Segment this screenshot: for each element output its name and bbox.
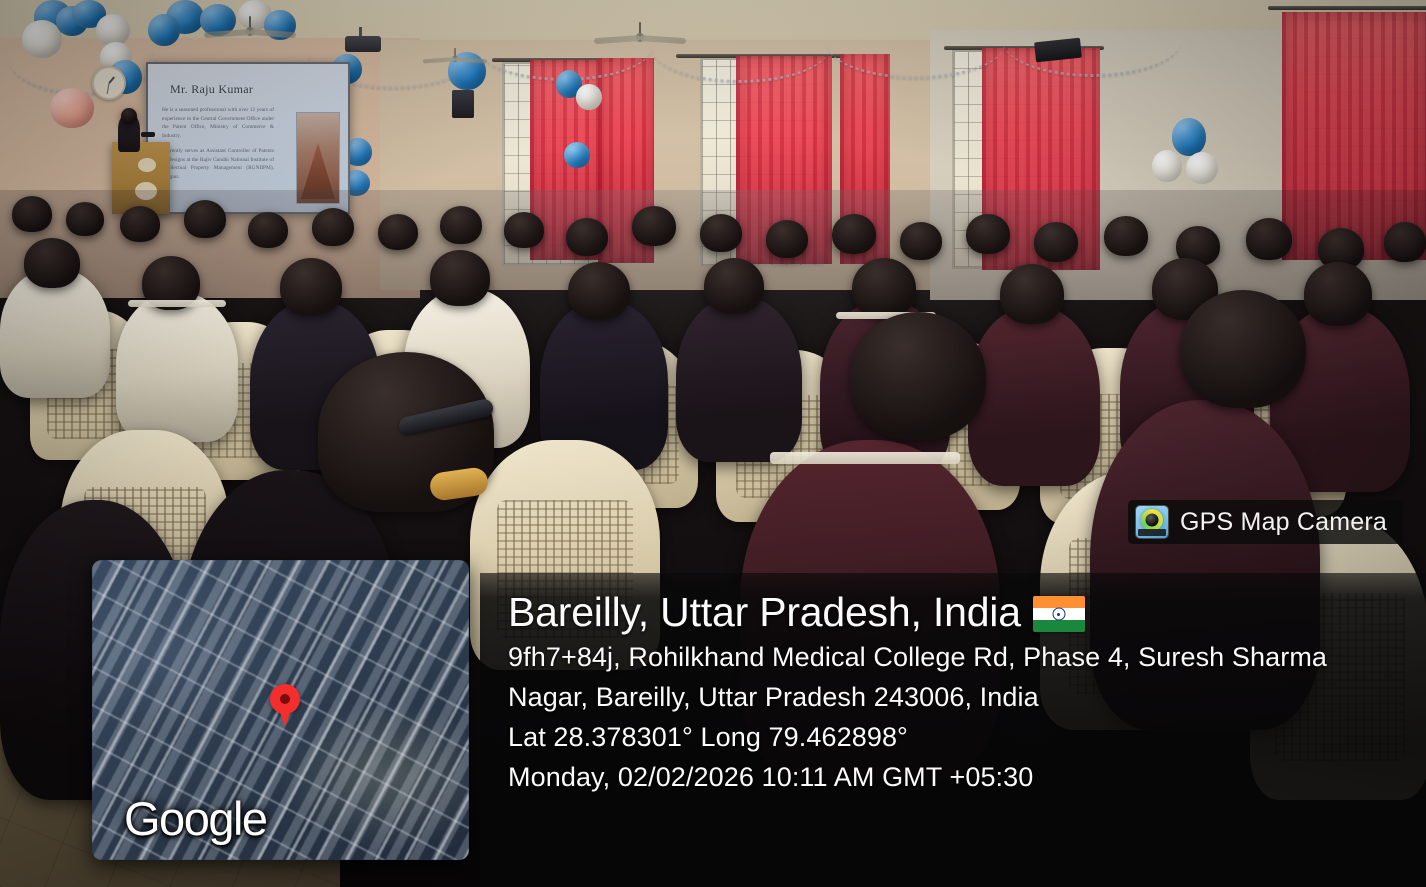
collar [770,452,960,464]
location-place: Bareilly, Uttar Pradesh, India [508,587,1021,637]
balloon-ceiling-11 [148,14,180,46]
location-info-panel: Bareilly, Uttar Pradesh, India 9fh7+84j,… [480,573,1426,887]
audience-head [184,200,226,238]
google-logo: Google [124,791,267,846]
audience-head [1104,216,1148,256]
audience-head [248,212,288,248]
audience-head [504,212,544,248]
slide-body: He is a seasoned professional with over … [162,106,274,188]
location-coordinates: Lat 28.378301° Long 79.462898° [508,717,1418,757]
audience-head [280,258,342,316]
map-thumbnail[interactable]: Google [92,560,469,860]
audience-head [440,206,482,244]
curtain-rod-right-b [1268,6,1426,10]
audience-person [676,296,802,462]
wall-clock-icon [92,66,126,100]
speaker-head [121,108,137,124]
gps-map-camera-watermark: GPS Map Camera [1128,500,1403,544]
balloon-wall-19 [564,142,590,168]
audience-head [900,222,942,260]
camera-lens-icon [1136,506,1168,538]
audience-head [852,258,916,318]
audience-head [120,206,160,242]
balloon-wall-18 [576,84,602,110]
microphone-icon [141,132,155,137]
screenshot-root: Mr. Raju Kumar He is a seasoned professi… [0,0,1426,887]
audience-head [1000,264,1064,324]
audience-head [700,214,742,252]
collar [128,300,226,307]
slide-paragraph-1: He is a seasoned professional with over … [162,106,274,140]
audience-head [378,214,418,250]
audience-head [1246,218,1292,260]
audience-head [832,214,876,254]
audience-head [1384,222,1426,262]
audience-head [24,238,80,288]
audience-head [704,258,764,314]
slide-title: Mr. Raju Kumar [170,82,253,97]
audience-head-front [1180,290,1306,408]
gps-map-camera-label: GPS Map Camera [1180,508,1387,537]
location-timestamp: Monday, 02/02/2026 10:11 AM GMT +05:30 [508,757,1418,797]
audience-head [66,202,104,236]
audience-head [1304,262,1372,326]
audience-head [766,220,808,258]
location-address: 9fh7+84j, Rohilkhand Medical College Rd,… [508,637,1376,717]
audience-head [568,262,630,320]
podium-emblem-1 [138,158,156,172]
balloon-wall-blue [1172,118,1206,156]
audience-head [1034,222,1078,262]
wall-speaker-left [452,90,474,118]
audience-head [632,206,676,246]
audience-head [966,214,1010,254]
projector-icon [345,36,381,52]
balloon-wall-white-2 [1186,152,1218,184]
audience-person [116,292,238,442]
audience-head [12,196,52,232]
balloon-wall-white-1 [1152,150,1182,182]
audience-person [968,306,1100,486]
balloon-wall-pink [50,88,94,128]
india-flag-icon [1033,596,1085,632]
location-place-row: Bareilly, Uttar Pradesh, India [508,587,1418,637]
audience-head-front [850,312,986,440]
audience-head [430,250,490,306]
slide-paragraph-2: Currently serves as Assistant Controller… [162,147,274,181]
audience-head [312,208,354,246]
map-pin-icon [270,684,300,728]
audience-head [566,218,608,256]
